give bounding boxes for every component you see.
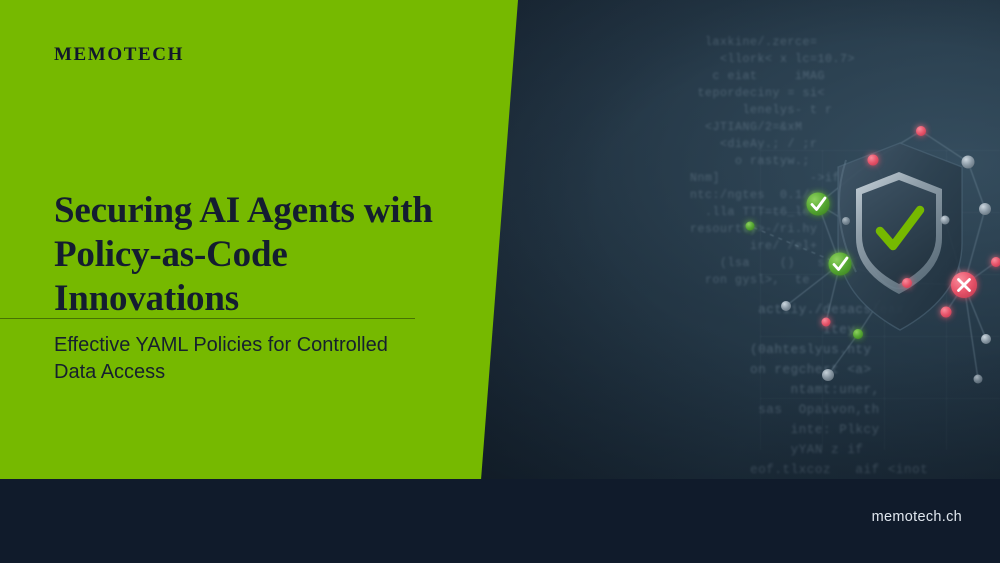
slide-subtitle: Effective YAML Policies for Controlled D… <box>54 332 424 386</box>
title-divider <box>0 318 415 319</box>
website-url: memotech.ch <box>872 509 962 525</box>
slide-title: Securing AI Agents with Policy-as-Code I… <box>54 189 454 321</box>
brand-logo: MEMOTECH <box>54 44 184 66</box>
presentation-slide: laxkine/.zerce= <llork< x lc=10.7> c eia… <box>0 0 1000 563</box>
footer-bar <box>0 479 1000 563</box>
